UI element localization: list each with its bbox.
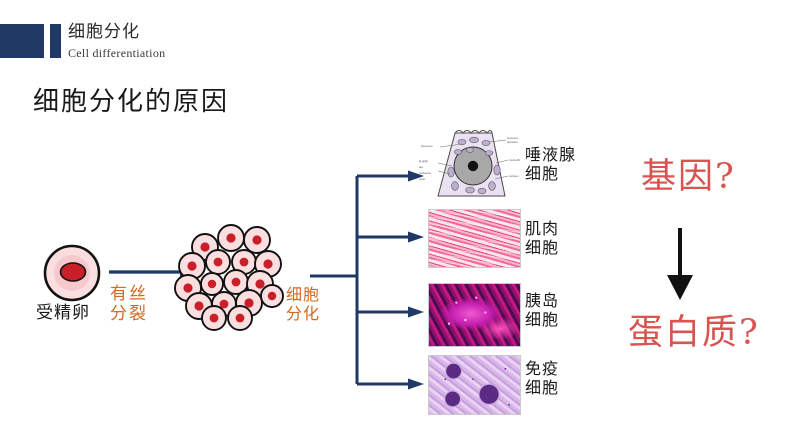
svg-text:microvilli: microvilli: [509, 158, 520, 162]
diagram-layer: lysosome lg.golgi apr. nucleolus outer s…: [0, 0, 794, 447]
svg-text:lg.golgi: lg.golgi: [419, 159, 428, 163]
immune-cell-micrograph: [428, 355, 521, 415]
label-mitosis: 有丝 分裂: [110, 284, 148, 324]
header-title-en: Cell differentiation: [68, 47, 165, 59]
arrow-mitosis: [109, 267, 196, 278]
islet-cell-micrograph: [428, 283, 521, 347]
header-accent-block-small: [50, 24, 61, 58]
slide-canvas: 细胞分化 Cell differentiation 细胞分化的原因: [0, 0, 794, 447]
label-fertilized-egg: 受精卵: [36, 303, 90, 323]
svg-text:granules: granules: [507, 140, 518, 144]
outcome-label-islet-cell: 胰岛 细胞: [525, 292, 559, 330]
outcome-label-immune-cell: 免疫 细胞: [525, 360, 559, 398]
svg-text:secretory: secretory: [507, 136, 519, 140]
question-protein: 蛋白质?: [628, 316, 760, 351]
svg-text:nucleolus: nucleolus: [419, 171, 431, 175]
fertilized-egg-icon: [45, 246, 99, 300]
svg-text:apr.: apr.: [419, 165, 424, 169]
label-differentiation: 细胞 分化: [286, 286, 320, 324]
salivary-gland-cell-diagram: lysosome lg.golgi apr. nucleolus outer s…: [419, 131, 520, 197]
question-gene: 基因?: [641, 160, 736, 195]
muscle-cell-micrograph: [428, 209, 521, 268]
cell-cluster-icon: [175, 225, 283, 330]
header-accent-block-large: [0, 24, 44, 58]
outcome-label-muscle-cell: 肌肉 细胞: [525, 220, 559, 258]
down-arrow-icon: [667, 228, 693, 300]
header-title-cn: 细胞分化: [68, 24, 140, 41]
branch-connector: [310, 176, 410, 384]
branch-arrowheads: [408, 171, 424, 390]
page-title: 细胞分化的原因: [33, 87, 229, 118]
svg-text:nucleus: nucleus: [509, 174, 519, 178]
svg-text:lysosome: lysosome: [421, 144, 433, 148]
outcome-label-salivary-gland-cell: 唾液腺 细胞: [525, 146, 576, 184]
svg-text:outer: outer: [419, 177, 425, 181]
